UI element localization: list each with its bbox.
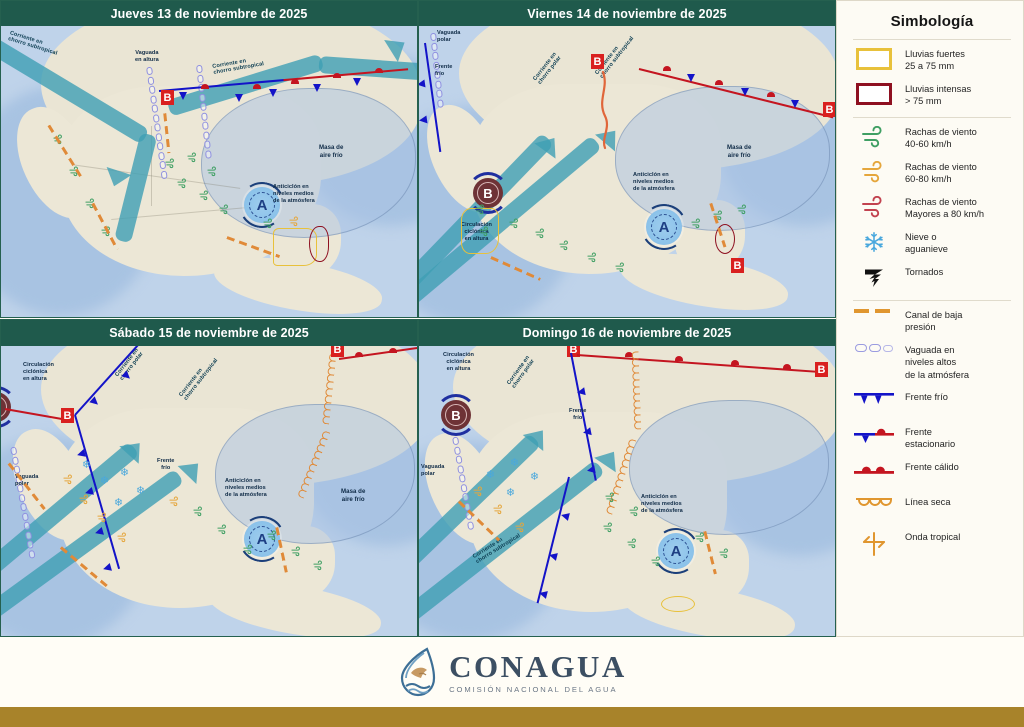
wind-gust-icon — [515, 522, 526, 533]
legend-label: Vaguada en niveles altos de la atmósfera — [905, 343, 969, 381]
front-pip-warm — [663, 66, 671, 71]
wind-swirl-green-icon — [851, 125, 897, 148]
front-pip-cold — [741, 88, 749, 96]
conagua-logo: CONAGUA COMISIÓN NACIONAL DEL AGUA — [397, 647, 627, 697]
forecast-panel-friday[interactable]: Viernes 14 de noviembre de 2025 Corrient… — [418, 0, 836, 318]
rain-box-yellow-icon — [851, 47, 897, 70]
front-pip-warm — [715, 80, 723, 85]
wind-swirl-red-icon — [851, 195, 897, 218]
snow-icon: ❄ — [113, 498, 124, 509]
front-pip-warm — [675, 356, 683, 361]
legend-label: Lluvias fuertes 25 a 75 mm — [905, 47, 965, 73]
wind-gust-icon — [193, 506, 204, 517]
legend-item-lluvias-intensas[interactable]: Lluvias intensas > 75 mm — [851, 82, 1013, 108]
legend-panel: Simbología Lluvias fuertes 25 a 75 mm Ll… — [836, 0, 1024, 637]
map-label-vaguada-altura: Vaguada en altura — [135, 50, 159, 64]
low-pressure-marker-b: B — [823, 102, 836, 117]
map-label-frente-frio: Frente frío — [569, 408, 586, 422]
front-pip-warm — [783, 364, 791, 369]
front-pip-warm — [731, 360, 739, 365]
map-saturday: Corriente en chorro polar Corriente en c… — [1, 346, 418, 637]
legend-divider — [853, 300, 1011, 301]
legend-label: Tornados — [905, 265, 943, 278]
wind-gust-icon — [217, 524, 228, 535]
legend-label: Frente cálido — [905, 460, 959, 473]
snow-icon: ❄ — [485, 470, 496, 481]
front-pip-warm — [201, 84, 209, 89]
wind-gust-icon — [63, 474, 74, 485]
snow-icon: ❄ — [509, 458, 520, 469]
front-pip-warm — [767, 92, 775, 97]
wind-gust-icon — [117, 532, 128, 543]
stationary-front-icon — [851, 425, 897, 444]
legend-label: Lluvias intensas > 75 mm — [905, 82, 971, 108]
map-label-anticiclon: Anticiclón en niveles medios de la atmós… — [273, 184, 315, 205]
legend-item-rachas-60-80[interactable]: Rachas de viento 60-80 km/h — [851, 160, 1013, 186]
wind-gust-icon — [493, 504, 504, 515]
map-sunday: Corriente en chorro polar Corriente en c… — [419, 346, 836, 637]
wind-gust-icon — [199, 190, 210, 201]
wind-gust-icon — [475, 204, 486, 215]
legend-divider — [853, 39, 1011, 40]
legend-item-frente-calido[interactable]: Frente cálido — [851, 460, 1013, 486]
wind-gust-icon — [79, 494, 90, 505]
low-pressure-channel — [589, 70, 625, 73]
legend-item-rachas-mayores-80[interactable]: Rachas de viento Mayores a 80 km/h — [851, 195, 1013, 221]
legend-label: Rachas de viento 40-60 km/h — [905, 125, 977, 151]
rain-zone-intense — [309, 226, 329, 262]
front-pip-cold — [586, 465, 595, 474]
legend-label: Canal de baja presión — [905, 308, 962, 334]
low-pressure-marker-b: B — [591, 54, 604, 69]
front-pip-cold — [419, 79, 426, 88]
map-label-anticiclon: Anticiclón en niveles medios de la atmós… — [641, 494, 683, 515]
low-pressure-marker-b: B — [815, 362, 828, 377]
wind-gust-icon — [289, 216, 300, 227]
maps-grid: Jueves 13 de noviembre de 2025 — [0, 0, 836, 637]
legend-label: Onda tropical — [905, 530, 960, 543]
front-pip-cold — [576, 387, 585, 396]
wind-gust-icon — [313, 560, 324, 571]
front-pip-cold — [791, 100, 799, 108]
front-pip-cold — [419, 115, 428, 124]
snow-icon: ❄ — [81, 460, 92, 471]
wind-gust-icon — [615, 262, 626, 273]
legend-item-frente-frio[interactable]: Frente frío — [851, 390, 1013, 416]
panel-title-sunday: Domingo 16 de noviembre de 2025 — [419, 320, 835, 346]
low-pressure-marker-b: B — [331, 346, 344, 357]
wind-swirl-orange-icon — [851, 160, 897, 183]
forecast-panel-sunday[interactable]: Domingo 16 de noviembre de 2025 Corrient… — [418, 319, 836, 637]
wind-gust-icon — [473, 486, 484, 497]
front-pip-warm — [253, 84, 261, 89]
legend-item-tornados[interactable]: Tornados — [851, 265, 1013, 291]
legend-item-canal-baja-presion[interactable]: Canal de baja presión — [851, 308, 1013, 334]
wind-gust-icon — [535, 228, 546, 239]
wind-gust-icon — [219, 204, 230, 215]
legend-item-onda-tropical[interactable]: Onda tropical — [851, 530, 1013, 557]
warm-front-icon — [851, 460, 897, 477]
legend-label: Nieve o aguanieve — [905, 230, 948, 256]
legend-label: Frente estacionario — [905, 425, 955, 451]
bottom-accent-bar — [0, 707, 1024, 727]
panel-title-friday: Viernes 14 de noviembre de 2025 — [419, 1, 835, 26]
legend-title: Simbología — [851, 13, 1013, 30]
snow-icon: ❄ — [135, 486, 146, 497]
low-pressure-marker-b: B — [61, 408, 74, 423]
wind-gust-icon — [187, 152, 198, 163]
front-pip-cold — [687, 74, 695, 82]
legend-item-rachas-40-60[interactable]: Rachas de viento 40-60 km/h — [851, 125, 1013, 151]
wind-gust-icon — [691, 218, 702, 229]
map-label-masa-aire-frio: Masa de aire frío — [341, 488, 365, 503]
front-pip-cold — [179, 92, 187, 100]
wind-gust-icon — [605, 492, 616, 503]
front-pip-cold — [269, 89, 277, 97]
low-pressure-channel-icon — [851, 308, 897, 313]
rain-box-darkred-icon — [851, 82, 897, 105]
wind-gust-icon — [97, 512, 108, 523]
front-pip-cold — [353, 78, 361, 86]
wind-gust-icon — [177, 178, 188, 189]
panel-title-thursday: Jueves 13 de noviembre de 2025 — [1, 1, 417, 26]
upper-trough-icon — [851, 343, 897, 352]
front-pip-warm — [389, 348, 397, 353]
front-pip-warm — [355, 352, 363, 357]
wind-gust-icon — [629, 506, 640, 517]
map-friday: Corriente en chorro polar Corriente en c… — [419, 26, 836, 318]
wind-gust-icon — [737, 204, 748, 215]
conagua-eagle-water-icon — [397, 647, 439, 697]
legend-item-lluvias-fuertes[interactable]: Lluvias fuertes 25 a 75 mm — [851, 47, 1013, 73]
wind-gust-icon — [587, 252, 598, 263]
map-label-frente-frio: Frente frío — [435, 64, 452, 78]
map-label-vaguada-polar: Vaguada polar — [437, 30, 460, 44]
wind-gust-icon — [603, 522, 614, 533]
wind-gust-icon — [243, 544, 254, 555]
low-pressure-marker-b: B — [731, 258, 744, 273]
wind-gust-icon — [165, 158, 176, 169]
wind-gust-icon — [207, 166, 218, 177]
wind-gust-icon — [559, 240, 570, 251]
conagua-name: CONAGUA — [449, 651, 627, 682]
forecast-infographic: Jueves 13 de noviembre de 2025 — [0, 0, 1024, 727]
front-pip-warm — [291, 79, 299, 84]
map-label-vaguada-polar: Vaguada polar — [421, 464, 444, 478]
map-label-anticiclon: Anticiclón en niveles medios de la atmós… — [225, 478, 267, 499]
front-pip-cold — [313, 84, 321, 92]
rain-zone-heavy — [661, 596, 695, 612]
map-thursday: Corriente en chorro subtropical Corrient… — [1, 26, 418, 318]
map-label-frente-frio: Frente frío — [157, 458, 174, 472]
legend-item-linea-seca[interactable]: Línea seca — [851, 495, 1013, 521]
map-label-anticiclon: Anticiclón en niveles medios de la atmós… — [633, 172, 675, 193]
snow-icon: ❄ — [99, 476, 110, 487]
legend-label: Rachas de viento Mayores a 80 km/h — [905, 195, 984, 221]
snowflake-icon — [851, 230, 897, 253]
cold-front-icon — [851, 390, 897, 407]
legend-item-frente-estacionario[interactable]: Frente estacionario — [851, 425, 1013, 451]
footer-brand-area: CONAGUA COMISIÓN NACIONAL DEL AGUA — [0, 637, 1024, 707]
low-pressure-marker-b: B — [161, 90, 174, 105]
forecast-panel-thursday[interactable]: Jueves 13 de noviembre de 2025 — [0, 0, 418, 318]
legend-label: Línea seca — [905, 495, 951, 508]
snow-icon: ❄ — [505, 488, 516, 499]
wind-gust-icon — [627, 538, 638, 549]
wind-gust-icon — [291, 546, 302, 557]
wind-gust-icon — [719, 548, 730, 559]
conagua-tagline: COMISIÓN NACIONAL DEL AGUA — [449, 685, 627, 694]
front-pip-cold — [235, 94, 243, 102]
map-label-circulacion-ciclonica: Circulación ciclónica en altura — [443, 352, 474, 373]
front-pip-cold — [582, 427, 591, 436]
front-pip-warm — [375, 68, 383, 73]
tropical-wave-icon — [851, 530, 897, 557]
legend-label: Frente frío — [905, 390, 948, 403]
legend-label: Rachas de viento 60-80 km/h — [905, 160, 977, 186]
legend-item-vaguada[interactable]: Vaguada en niveles altos de la atmósfera — [851, 343, 1013, 381]
tornado-icon — [851, 265, 897, 290]
wind-gust-icon — [509, 218, 520, 229]
wind-gust-icon — [479, 226, 490, 237]
snow-icon: ❄ — [119, 468, 130, 479]
forecast-panel-saturday[interactable]: Sábado 15 de noviembre de 2025 Corriente… — [0, 319, 418, 637]
map-label-circulacion-ciclonica: Circulación ciclónica en altura — [23, 362, 54, 383]
legend-item-nieve[interactable]: Nieve o aguanieve — [851, 230, 1013, 256]
conagua-wordmark: CONAGUA COMISIÓN NACIONAL DEL AGUA — [449, 651, 627, 694]
high-pressure-marker-a: A — [646, 209, 682, 245]
high-pressure-marker-a: A — [658, 533, 694, 569]
dry-line-icon — [851, 495, 897, 511]
map-label-masa-aire-frio: Masa de aire frío — [727, 144, 751, 159]
front-pip-warm — [333, 73, 341, 78]
wind-gust-icon — [169, 496, 180, 507]
panel-title-saturday: Sábado 15 de noviembre de 2025 — [1, 320, 417, 346]
wind-gust-icon — [651, 556, 662, 567]
legend-divider — [853, 117, 1011, 118]
snow-icon: ❄ — [529, 472, 540, 483]
low-pressure-marker-b-circle: B — [441, 400, 471, 430]
wind-gust-icon — [263, 218, 274, 229]
map-label-masa-aire-frio: Masa de aire frío — [319, 144, 343, 159]
